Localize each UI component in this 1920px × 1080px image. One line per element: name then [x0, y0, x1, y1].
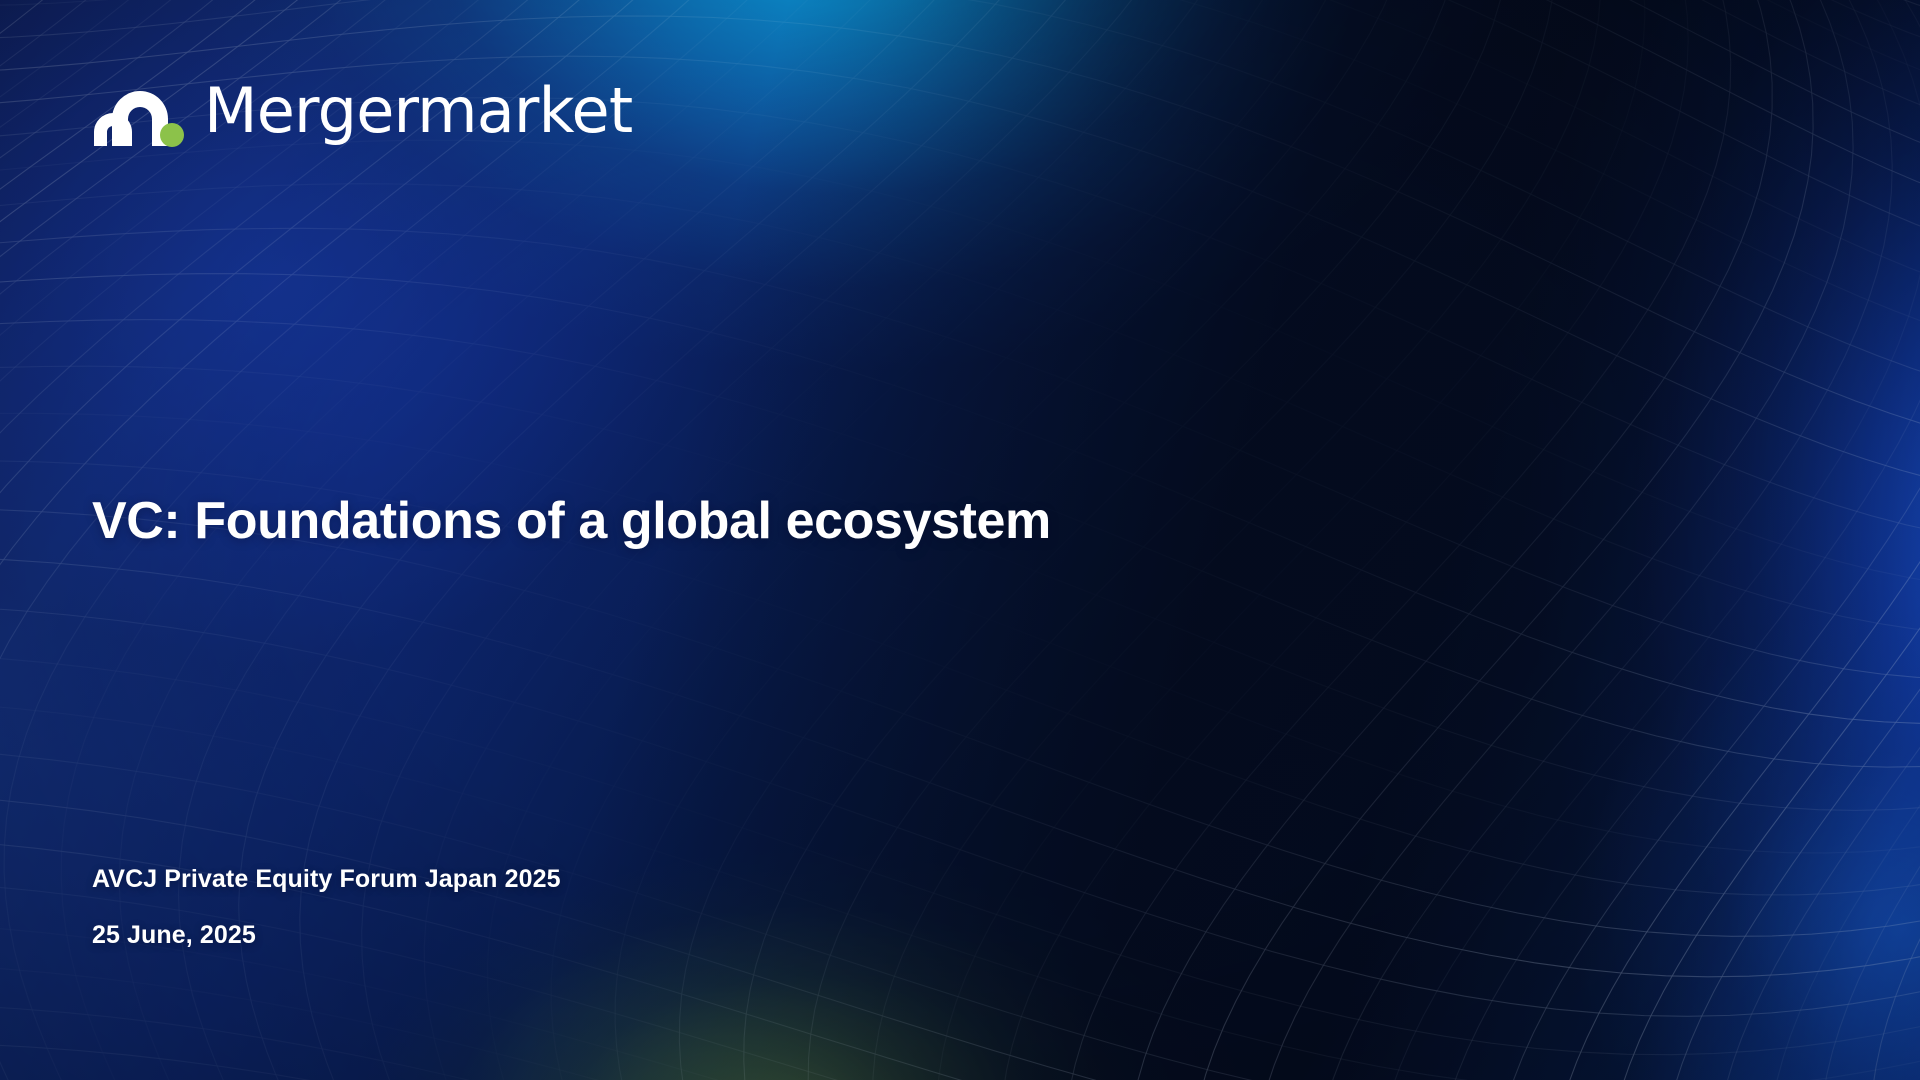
- page-title: VC: Foundations of a global ecosystem: [92, 492, 1051, 552]
- mergermarket-wordmark: Mergermarket: [204, 80, 632, 142]
- slide-content: Mergermarket VC: Foundations of a global…: [0, 0, 1920, 1080]
- footer-event-name: AVCJ Private Equity Forum Japan 2025: [92, 866, 561, 894]
- mergermarket-arch-mark-icon: [92, 74, 188, 148]
- slide-footer: AVCJ Private Equity Forum Japan 2025 25 …: [92, 866, 561, 949]
- title-slide: Mergermarket VC: Foundations of a global…: [0, 0, 1920, 1080]
- footer-date: 25 June, 2025: [92, 922, 561, 950]
- mergermarket-logo: Mergermarket: [92, 74, 632, 148]
